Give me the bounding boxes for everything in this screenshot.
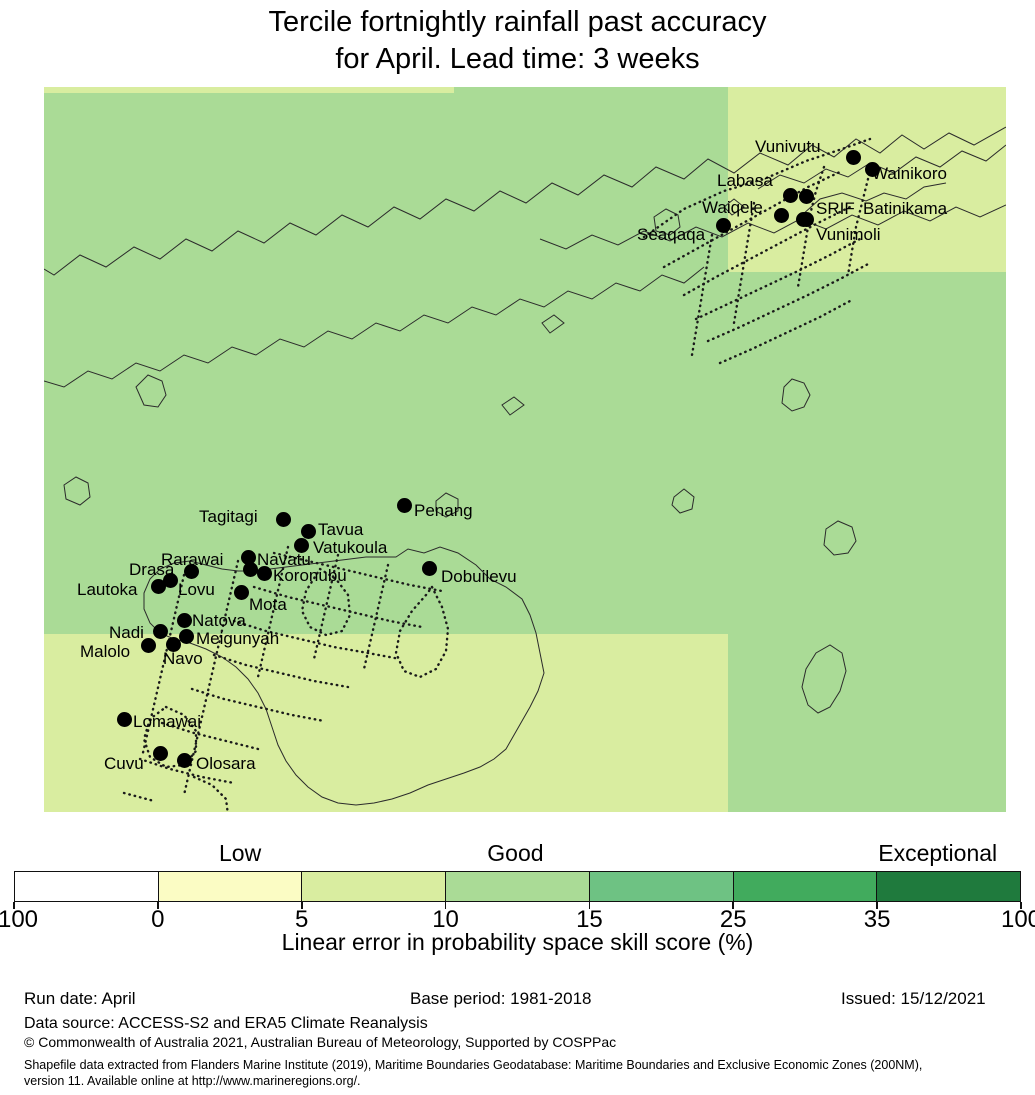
shapefile-line-2: version 11. Available online at http://w… (24, 1073, 1024, 1089)
station-label: Natova (192, 612, 246, 629)
map-graphic (44, 87, 1006, 812)
station-label: Dobuilevu (441, 568, 517, 585)
station-label: Nadi (109, 624, 144, 641)
base-period-text: Base period: 1981-2018 (410, 989, 591, 1009)
page-title-line1: Tercile fortnightly rainfall past accura… (0, 4, 1035, 41)
station-marker[interactable] (234, 585, 249, 600)
station-marker[interactable] (179, 629, 194, 644)
station-label: Vatukoula (313, 539, 387, 556)
station-marker[interactable] (153, 746, 168, 761)
colorbar-segment (733, 872, 877, 901)
station-label: Navo (163, 650, 203, 667)
station-marker[interactable] (153, 624, 168, 639)
station-marker[interactable] (184, 564, 199, 579)
colorbar-segment (445, 872, 589, 901)
colorbar-category-label: Good (487, 840, 543, 866)
data-source-text: Data source: ACCESS-S2 and ERA5 Climate … (24, 1014, 428, 1033)
station-label: Koronubu (273, 567, 347, 584)
station-marker[interactable] (397, 498, 412, 513)
page-title: Tercile fortnightly rainfall past accura… (0, 0, 1035, 78)
station-marker[interactable] (141, 638, 156, 653)
station-label: Wainikoro (872, 165, 947, 182)
station-label: Vunimoli (816, 226, 881, 243)
station-label: Waiqele (702, 199, 763, 216)
station-label: Seaqaqa (637, 226, 705, 243)
station-marker[interactable] (177, 753, 192, 768)
station-marker[interactable] (799, 212, 814, 227)
station-marker[interactable] (177, 613, 192, 628)
station-marker[interactable] (422, 561, 437, 576)
station-label: SRIF (816, 200, 855, 217)
issued-date-text: Issued: 15/12/2021 (841, 989, 986, 1009)
station-label: Lomawai (133, 713, 201, 730)
forecast-accuracy-map-page: Tercile fortnightly rainfall past accura… (0, 0, 1035, 1095)
shapefile-line-1: Shapefile data extracted from Flanders M… (24, 1057, 1024, 1073)
station-label: Meigunyah (196, 630, 279, 647)
station-marker[interactable] (257, 566, 272, 581)
colorbar-segment (15, 872, 158, 901)
page-title-line2: for April. Lead time: 3 weeks (0, 41, 1035, 78)
station-marker[interactable] (716, 218, 731, 233)
shapefile-attribution: Shapefile data extracted from Flanders M… (24, 1057, 1024, 1089)
station-marker[interactable] (301, 524, 316, 539)
station-label: Lautoka (77, 581, 138, 598)
station-marker[interactable] (117, 712, 132, 727)
colorbar-segment (158, 872, 302, 901)
colorbar-axis-label: Linear error in probability space skill … (0, 928, 1035, 956)
station-label: Malolo (80, 643, 130, 660)
station-label: Tavua (318, 521, 363, 538)
colorbar-segment (589, 872, 733, 901)
station-marker[interactable] (846, 150, 861, 165)
station-marker[interactable] (163, 573, 178, 588)
copyright-text: © Commonwealth of Australia 2021, Austra… (24, 1034, 616, 1051)
station-label: Vunivutu (755, 138, 821, 155)
station-label: Tagitagi (199, 508, 258, 525)
colorbar-category-labels: LowGoodExceptional (0, 840, 1035, 870)
map-panel[interactable]: VunivutuWainikoroLabasaWaiqeleSRIFBatini… (44, 87, 1006, 812)
station-marker[interactable] (799, 189, 814, 204)
station-label: Labasa (717, 172, 773, 189)
station-label: Mota (249, 596, 287, 613)
station-marker[interactable] (276, 512, 291, 527)
station-marker[interactable] (774, 208, 789, 223)
station-marker[interactable] (243, 562, 258, 577)
colorbar-category-label: Exceptional (878, 840, 997, 866)
run-date-text: Run date: April (24, 989, 136, 1009)
colorbar[interactable] (14, 871, 1021, 902)
station-label: Cuvu (104, 755, 144, 772)
station-marker[interactable] (783, 188, 798, 203)
station-label: Batinikama (863, 200, 947, 217)
station-label: Lovu (178, 581, 215, 598)
colorbar-segment (876, 872, 1020, 901)
colorbar-segment (301, 872, 445, 901)
station-label: Olosara (196, 755, 256, 772)
footer-meta-row: Run date: April Base period: 1981-2018 I… (0, 989, 1035, 1011)
colorbar-category-label: Low (219, 840, 261, 866)
station-label: Penang (414, 502, 473, 519)
